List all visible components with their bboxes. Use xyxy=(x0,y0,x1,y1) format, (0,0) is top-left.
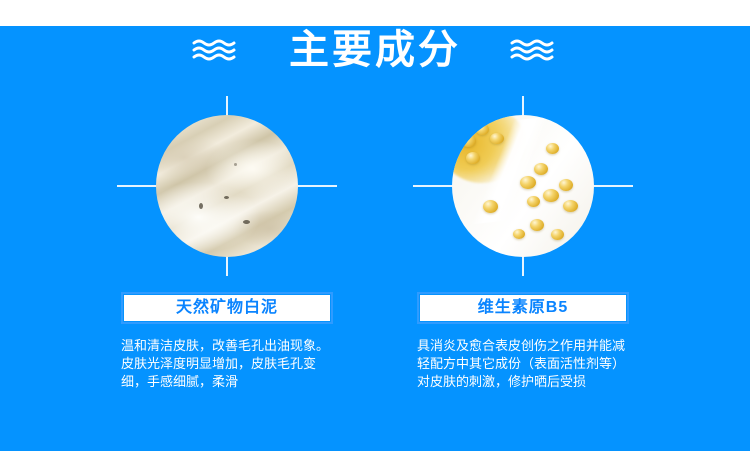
ingredient-photo-frame xyxy=(413,96,633,276)
ingredient-name: 维生素原B5 xyxy=(478,300,568,316)
section-header: 主要成分 xyxy=(0,22,750,78)
wave-lines-icon xyxy=(509,37,559,63)
ingredient-card-provitamin-b5: 维生素原B5 具消炎及愈合表皮创伤之作用并能减轻配方中其它成份（表面活性剂等）对… xyxy=(413,96,633,451)
wave-lines-icon xyxy=(191,37,241,63)
ingredient-card-white-clay: 天然矿物白泥 温和清洁皮肤，改善毛孔出油现象。皮肤光泽度明显增加，皮肤毛孔变细，… xyxy=(117,96,337,451)
ingredient-name-plate: 天然矿物白泥 xyxy=(121,292,333,324)
ingredient-banner: 主要成分 xyxy=(0,0,750,451)
ingredient-photo-frame xyxy=(117,96,337,276)
ingredient-card-list: 天然矿物白泥 温和清洁皮肤，改善毛孔出油现象。皮肤光泽度明显增加，皮肤毛孔变细，… xyxy=(0,96,750,451)
page-title: 主要成分 xyxy=(289,30,461,70)
ingredient-photo-provitamin-b5 xyxy=(452,115,594,257)
ingredient-name: 天然矿物白泥 xyxy=(176,300,278,316)
ingredient-photo-white-clay xyxy=(156,115,298,257)
ingredient-description: 具消炎及愈合表皮创伤之作用并能减轻配方中其它成份（表面活性剂等）对皮肤的刺激，修… xyxy=(417,337,629,391)
ingredient-name-plate: 维生素原B5 xyxy=(417,292,629,324)
ingredient-description: 温和清洁皮肤，改善毛孔出油现象。皮肤光泽度明显增加，皮肤毛孔变细，手感细腻，柔滑 xyxy=(121,337,333,391)
